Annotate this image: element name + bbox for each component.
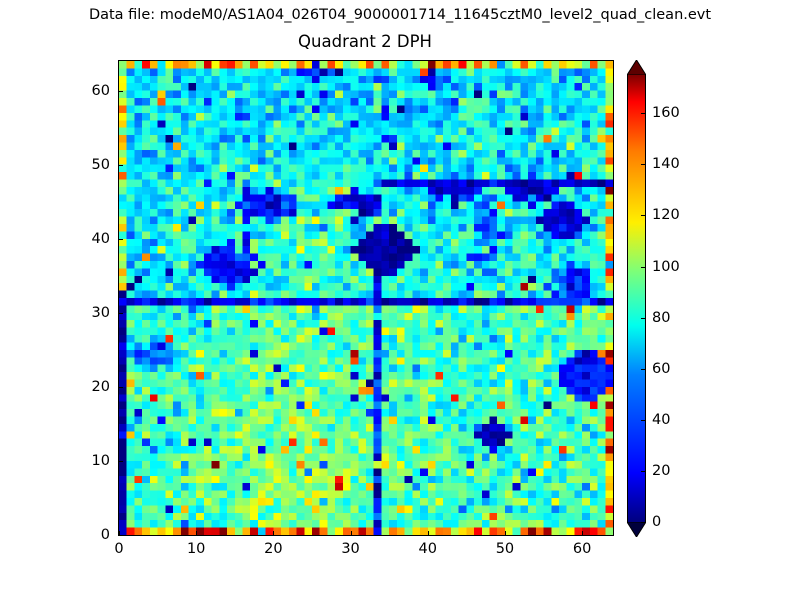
y-tick-mark <box>119 91 123 92</box>
colorbar-tick-mark <box>641 369 646 370</box>
x-tick-label: 40 <box>419 541 437 557</box>
y-tick-label: 10 <box>68 453 110 469</box>
colorbar-tick-mark <box>641 215 646 216</box>
colorbar-tick-label: 120 <box>652 207 680 223</box>
colorbar-tick-label: 20 <box>652 463 670 479</box>
y-tick-label: 50 <box>68 157 110 173</box>
y-tick-label: 40 <box>68 231 110 247</box>
y-tick-label: 0 <box>68 527 110 543</box>
heatmap-image[interactable] <box>119 61 613 535</box>
colorbar-extend-bottom-icon <box>627 522 646 537</box>
y-tick-mark <box>119 535 123 536</box>
x-tick-mark <box>505 531 506 535</box>
colorbar-tick-label: 0 <box>652 514 661 530</box>
colorbar-tick-mark <box>641 318 646 319</box>
heatmap-axes[interactable] <box>118 60 614 536</box>
y-tick-label: 30 <box>68 305 110 321</box>
x-tick-label: 30 <box>341 541 359 557</box>
x-tick-label: 0 <box>114 541 123 557</box>
colorbar-tick-label: 60 <box>652 361 670 377</box>
colorbar-tick-mark <box>641 420 646 421</box>
data-file-suptitle: Data file: modeM0/AS1A04_026T04_90000017… <box>0 6 800 24</box>
x-tick-mark <box>273 531 274 535</box>
colorbar-tick-mark <box>641 164 646 165</box>
colorbar-extend-top-icon <box>627 60 646 75</box>
colorbar-tick-label: 40 <box>652 412 670 428</box>
y-tick-mark <box>119 461 123 462</box>
x-tick-mark <box>196 531 197 535</box>
x-tick-label: 50 <box>496 541 514 557</box>
y-tick-mark <box>119 313 123 314</box>
x-tick-mark <box>582 531 583 535</box>
colorbar-tick-label: 140 <box>652 156 680 172</box>
y-tick-label: 20 <box>68 379 110 395</box>
colorbar-tick-mark <box>641 267 646 268</box>
colorbar-tick-mark <box>641 522 646 523</box>
figure-canvas: Data file: modeM0/AS1A04_026T04_90000017… <box>0 0 800 600</box>
colorbar-tick-label: 160 <box>652 105 680 121</box>
colorbar-tick-label: 100 <box>652 259 680 275</box>
x-tick-label: 20 <box>264 541 282 557</box>
x-tick-label: 10 <box>187 541 205 557</box>
colorbar-tick-mark <box>641 113 646 114</box>
colorbar-gradient <box>627 75 646 522</box>
y-tick-label: 60 <box>68 83 110 99</box>
y-tick-mark <box>119 165 123 166</box>
colorbar-tick-label: 80 <box>652 310 670 326</box>
y-tick-mark <box>119 387 123 388</box>
page-title: Quadrant 2 DPH <box>118 32 612 52</box>
x-tick-mark <box>428 531 429 535</box>
colorbar-tick-mark <box>641 471 646 472</box>
x-tick-mark <box>351 531 352 535</box>
x-tick-label: 60 <box>573 541 591 557</box>
y-tick-mark <box>119 239 123 240</box>
colorbar[interactable] <box>627 60 646 537</box>
